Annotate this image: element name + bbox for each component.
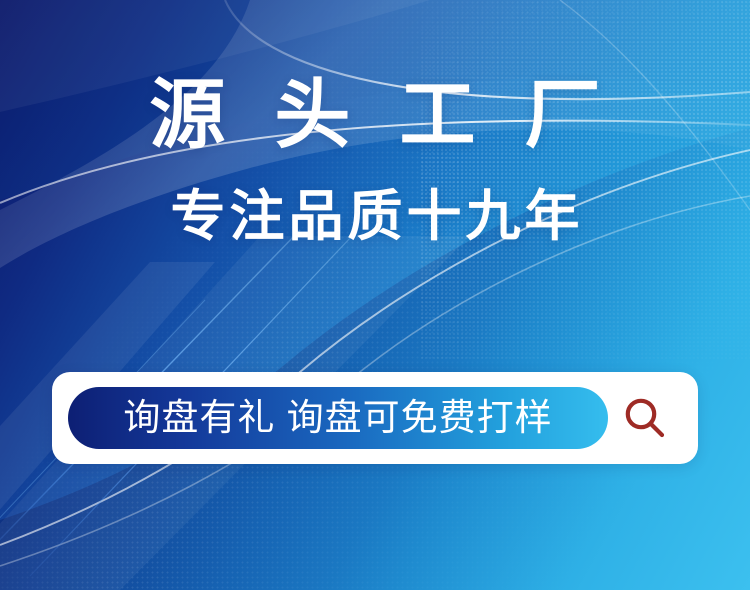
search-input-text: 询盘有礼 询盘可免费打样 — [123, 397, 552, 439]
search-input[interactable]: 询盘有礼 询盘可免费打样 — [68, 387, 608, 449]
search-icon[interactable] — [622, 395, 668, 441]
promo-banner: 源 头 工 厂 专注品质十九年 询盘有礼 询盘可免费打样 — [0, 0, 750, 590]
search-bar[interactable]: 询盘有礼 询盘可免费打样 — [52, 372, 698, 464]
search-button[interactable] — [608, 372, 682, 464]
page-title: 源 头 工 厂 — [0, 74, 750, 158]
headline-block: 源 头 工 厂 专注品质十九年 — [0, 74, 750, 246]
page-subtitle: 专注品质十九年 — [0, 186, 750, 246]
